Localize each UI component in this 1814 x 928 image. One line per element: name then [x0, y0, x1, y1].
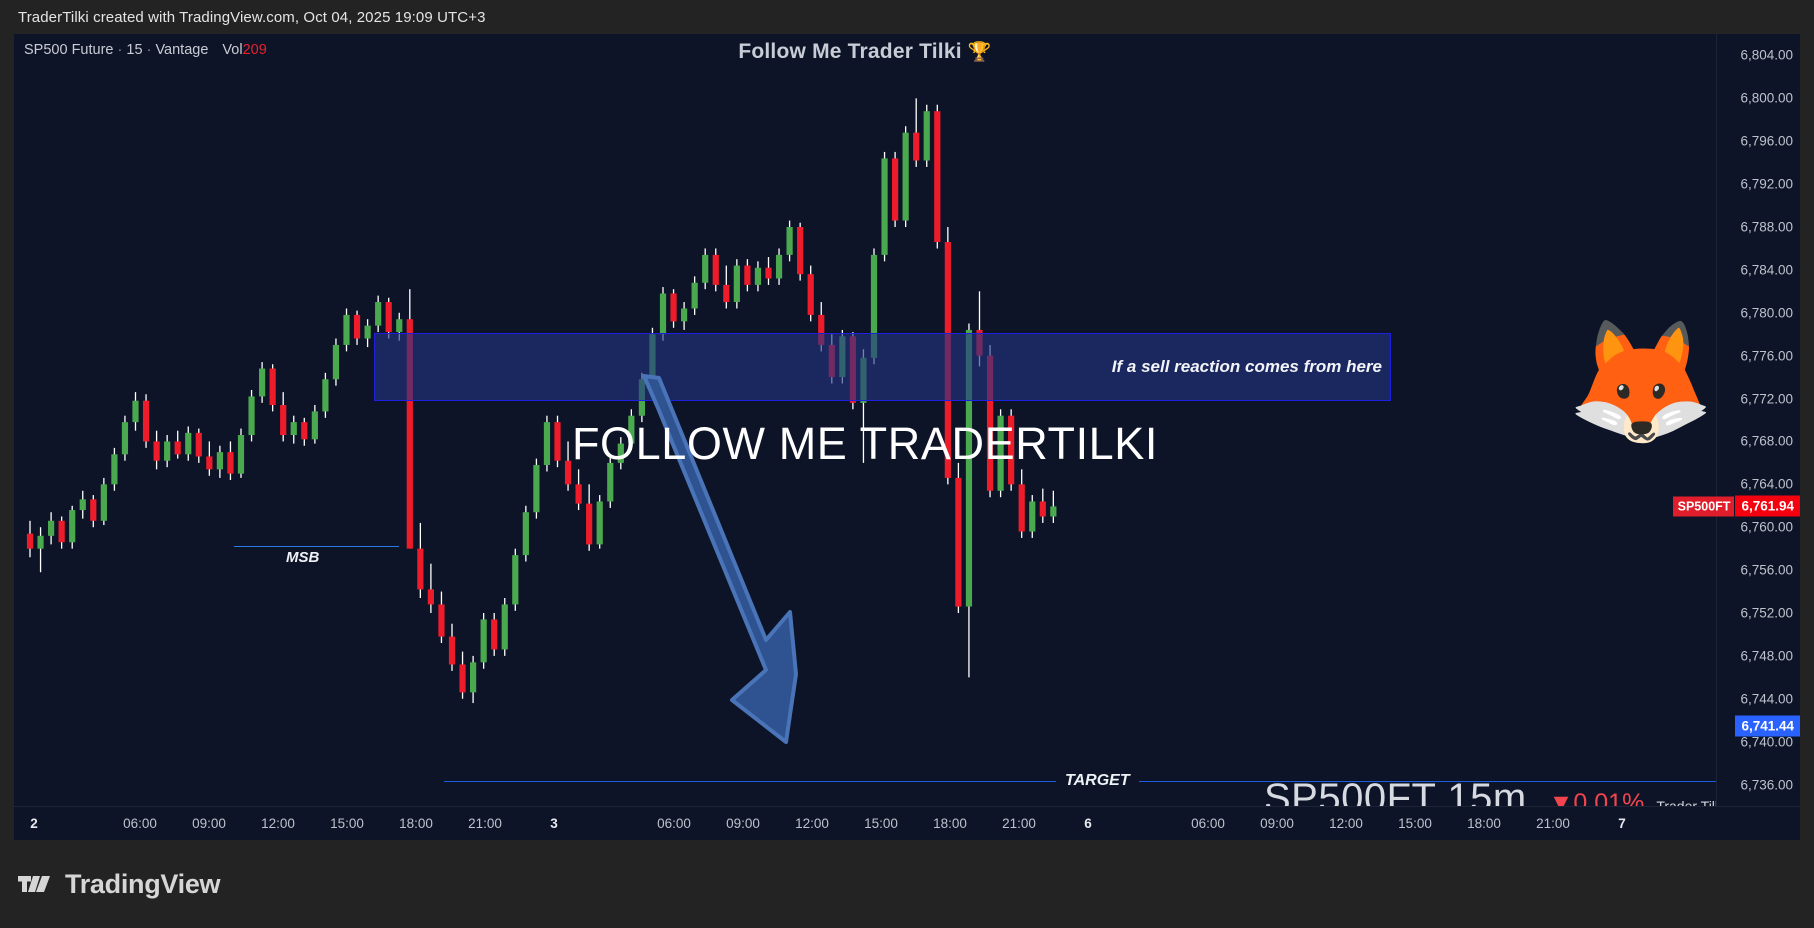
candle-body — [660, 293, 666, 334]
candle-body — [37, 536, 43, 549]
time-axis-tick: 6 — [1084, 816, 1092, 831]
candle-body — [881, 158, 887, 255]
candle-body — [343, 315, 349, 345]
candle-body — [48, 521, 54, 536]
candle-body — [322, 379, 328, 411]
candle-body — [101, 484, 107, 520]
msb-line[interactable] — [234, 546, 399, 547]
candle-body — [533, 465, 539, 512]
candle-body — [417, 549, 423, 590]
candle-body — [576, 484, 582, 503]
candle-body — [1040, 501, 1046, 516]
candle-body — [27, 534, 33, 549]
tradingview-chart-screenshot: TraderTilki created with TradingView.com… — [0, 0, 1814, 928]
candle-body — [69, 510, 75, 542]
watermark-change: ▼0.01% — [1549, 789, 1645, 806]
price-axis-tick: 6,756.00 — [1740, 563, 1793, 578]
price-axis-tick: 6,736.00 — [1740, 777, 1793, 792]
time-axis-tick: 15:00 — [864, 816, 898, 831]
chart-title: Follow Me Trader Tilki 🏆 — [14, 40, 1716, 64]
candle-body — [702, 255, 708, 283]
plot-area[interactable]: If a sell reaction comes from here MSB T… — [14, 34, 1716, 806]
time-axis-tick: 21:00 — [1536, 816, 1570, 831]
time-axis-tick: 06:00 — [657, 816, 691, 831]
candle-body — [597, 501, 603, 544]
tradingview-logo-icon — [18, 873, 54, 895]
time-axis-tick: 15:00 — [330, 816, 364, 831]
price-axis-tick: 6,748.00 — [1740, 648, 1793, 663]
target-price-badge[interactable]: 6,741.44 — [1735, 716, 1800, 737]
candle-body — [755, 268, 761, 285]
price-axis-tick: 6,792.00 — [1740, 177, 1793, 192]
time-axis-tick: 06:00 — [123, 816, 157, 831]
candle-body — [681, 308, 687, 321]
candle-body — [1029, 501, 1035, 531]
candle-body — [586, 504, 592, 545]
price-axis-tick: 6,804.00 — [1740, 48, 1793, 63]
candle-body — [1050, 506, 1056, 516]
price-axis-tick: 6,760.00 — [1740, 520, 1793, 535]
credit-bar: TraderTilki created with TradingView.com… — [0, 0, 1814, 34]
credit-text: TraderTilki created with TradingView.com… — [0, 9, 486, 26]
time-axis-tick: 12:00 — [795, 816, 829, 831]
time-axis[interactable]: 206:0009:0012:0015:0018:0021:00306:0009:… — [14, 806, 1800, 840]
time-axis-tick: 7 — [1618, 816, 1626, 831]
time-axis-tick: 18:00 — [1467, 816, 1501, 831]
candle-body — [1019, 484, 1025, 531]
price-axis-tick: 6,768.00 — [1740, 434, 1793, 449]
candle-body — [365, 326, 371, 339]
chart-title-text: Follow Me Trader Tilki — [738, 40, 961, 63]
time-axis-tick: 06:00 — [1191, 816, 1225, 831]
candle-body — [59, 521, 65, 542]
price-axis-tick: 6,784.00 — [1740, 262, 1793, 277]
candle-body — [354, 315, 360, 339]
candle-body — [892, 158, 898, 220]
price-axis-tick: 6,752.00 — [1740, 606, 1793, 621]
center-watermark: FOLLOW ME TRADERTILKI — [14, 418, 1716, 470]
candle-body — [670, 293, 676, 321]
price-axis[interactable]: 6,804.006,800.006,796.006,792.006,788.00… — [1716, 34, 1800, 840]
candle-body — [955, 478, 961, 607]
candle-body — [375, 302, 381, 326]
time-axis-tick: 12:00 — [261, 816, 295, 831]
candle-body — [333, 345, 339, 379]
msb-label: MSB — [286, 549, 319, 566]
candle-body — [459, 664, 465, 692]
price-axis-tick: 6,780.00 — [1740, 305, 1793, 320]
watermark-author: Trader Tilki — [1656, 798, 1716, 806]
price-axis-tick: 6,764.00 — [1740, 477, 1793, 492]
target-label: TARGET — [1056, 772, 1139, 790]
fox-icon: 🦊 — [1566, 322, 1715, 442]
supply-zone-rectangle[interactable]: If a sell reaction comes from here — [374, 333, 1391, 401]
candle-body — [776, 255, 782, 279]
candle-body — [797, 227, 803, 274]
time-axis-tick: 09:00 — [192, 816, 226, 831]
candle-body — [470, 662, 476, 692]
candle-body — [713, 255, 719, 285]
time-axis-tick: 15:00 — [1398, 816, 1432, 831]
time-axis-tick: 2 — [30, 816, 38, 831]
candle-body — [502, 604, 508, 649]
last-price-badge[interactable]: SP500FT6,761.94 — [1673, 496, 1800, 517]
candle-body — [808, 274, 814, 315]
candle-body — [438, 604, 444, 636]
candle-body — [270, 369, 276, 405]
watermark-symbol: SP500FT 15m — [1264, 776, 1527, 806]
candle-body — [481, 619, 487, 662]
chart-pane[interactable]: If a sell reaction comes from here MSB T… — [14, 34, 1800, 840]
candle-body — [734, 266, 740, 302]
candle-body — [449, 637, 455, 665]
time-axis-tick: 21:00 — [468, 816, 502, 831]
supply-zone-label: If a sell reaction comes from here — [1112, 357, 1382, 377]
candle-body — [913, 133, 919, 161]
candle-body — [491, 619, 497, 649]
last-price-value: 6,761.94 — [1734, 496, 1800, 517]
candle-body — [903, 133, 909, 221]
time-axis-tick: 3 — [550, 816, 558, 831]
bottom-right-watermark: SP500FT 15m ▼0.01% Trader Tilki — [1264, 776, 1716, 806]
price-axis-tick: 6,772.00 — [1740, 391, 1793, 406]
time-axis-tick: 09:00 — [726, 816, 760, 831]
candle-body — [428, 589, 434, 604]
price-axis-tick: 6,788.00 — [1740, 220, 1793, 235]
time-axis-tick: 12:00 — [1329, 816, 1363, 831]
candle-body — [80, 499, 86, 510]
candle-body — [934, 111, 940, 242]
candle-body — [386, 302, 392, 332]
time-axis-tick: 18:00 — [933, 816, 967, 831]
candle-body — [90, 499, 96, 520]
candle-body — [765, 268, 771, 279]
price-axis-tick: 6,796.00 — [1740, 134, 1793, 149]
candle-body — [692, 283, 698, 309]
tradingview-logo-text: TradingView — [65, 869, 220, 900]
candle-body — [723, 285, 729, 302]
trophy-icon: 🏆 — [968, 42, 992, 63]
candle-body — [523, 512, 529, 555]
last-price-symbol: SP500FT — [1673, 496, 1735, 516]
candle-body — [744, 266, 750, 285]
tradingview-logo[interactable]: TradingView — [0, 869, 220, 900]
candle-body — [259, 369, 265, 397]
candle-body — [787, 227, 793, 255]
price-axis-tick: 6,744.00 — [1740, 691, 1793, 706]
time-axis-tick: 21:00 — [1002, 816, 1036, 831]
candle-body — [396, 319, 402, 332]
candle-body — [512, 555, 518, 604]
time-axis-tick: 09:00 — [1260, 816, 1294, 831]
price-axis-tick: 6,800.00 — [1740, 91, 1793, 106]
candle-body — [924, 111, 930, 160]
footer-bar: TradingView — [0, 840, 1814, 928]
price-axis-tick: 6,776.00 — [1740, 348, 1793, 363]
time-axis-tick: 18:00 — [399, 816, 433, 831]
